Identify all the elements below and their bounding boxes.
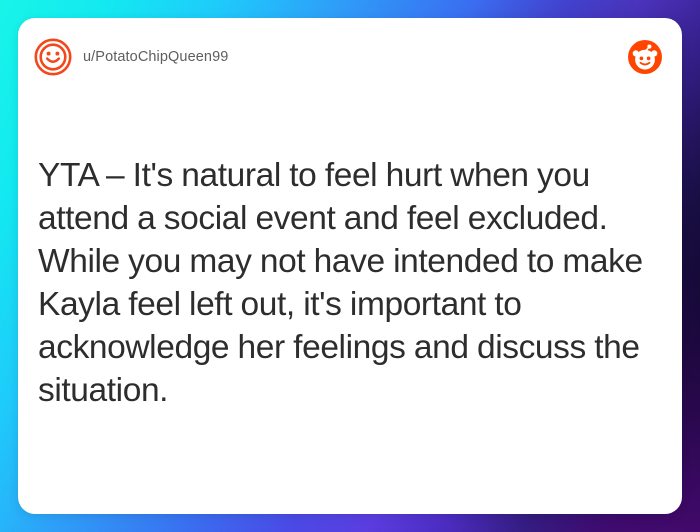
smiley-face-avatar-icon[interactable] — [34, 38, 72, 76]
post-text: YTA – It's natural to feel hurt when you… — [38, 154, 646, 412]
card-body: YTA – It's natural to feel hurt when you… — [38, 154, 646, 412]
screenshot-root: u/PotatoChipQueen99 YTA – It's natural t… — [0, 0, 700, 532]
reddit-snoo-icon[interactable] — [626, 38, 664, 76]
card-header: u/PotatoChipQueen99 — [18, 18, 682, 96]
reddit-comment-card: u/PotatoChipQueen99 YTA – It's natural t… — [18, 18, 682, 514]
username-label: u/PotatoChipQueen99 — [83, 49, 626, 65]
